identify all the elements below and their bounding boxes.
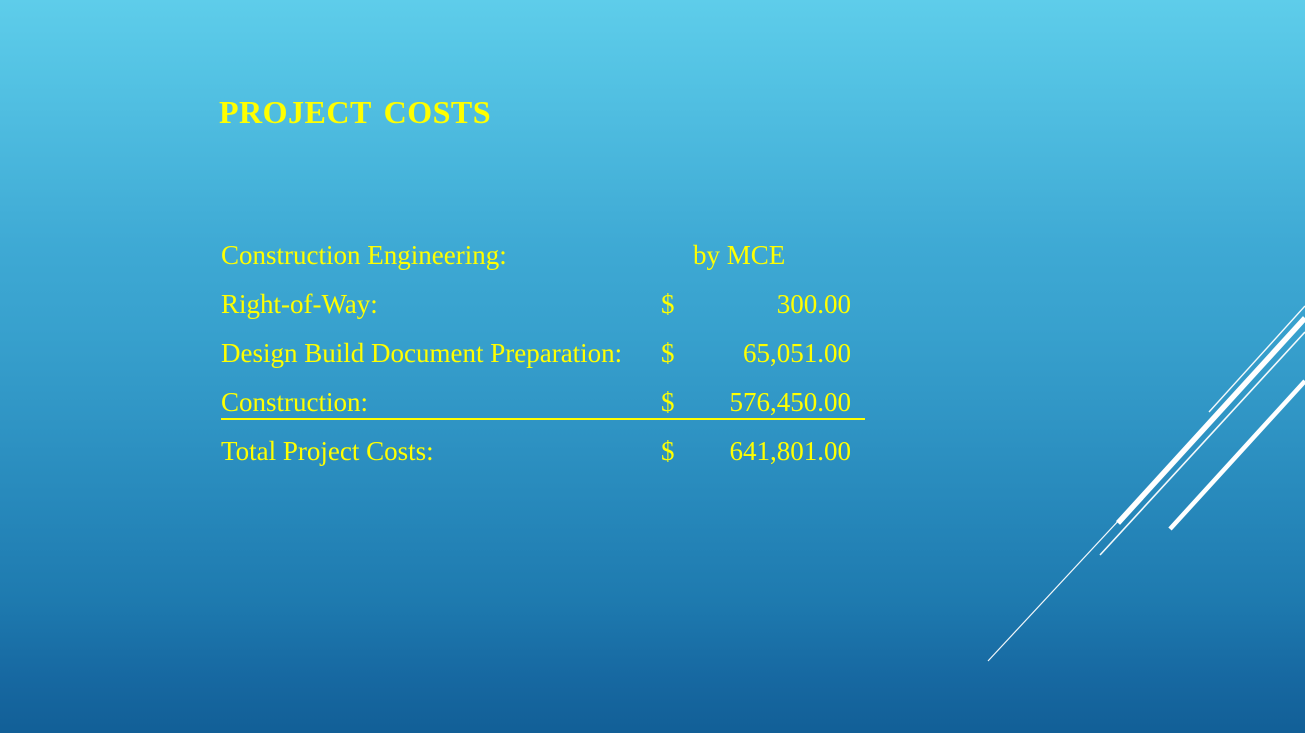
decor-line-short [1209, 306, 1305, 412]
decor-line-thin [1100, 332, 1305, 555]
cost-label: Right-of-Way: [221, 287, 661, 321]
cost-label: Design Build Document Preparation: [221, 336, 661, 370]
table-row: Design Build Document Preparation: $ 65,… [221, 336, 861, 385]
page-title: Project Costs [219, 85, 491, 132]
cost-label-total: Total Project Costs: [221, 434, 661, 468]
cost-amount-total: 641,801.00 [691, 434, 853, 468]
decor-line-medium [1170, 381, 1305, 529]
cost-label: Construction: [221, 385, 661, 419]
table-row: Right-of-Way: $ 300.00 [221, 287, 861, 336]
table-row: Construction Engineering: by MCE [221, 238, 861, 287]
project-costs-table: Construction Engineering: by MCE Right-o… [221, 238, 861, 483]
table-row-subtotal-rule: Construction: $ 576,450.00 [221, 385, 861, 434]
cost-amount: 576,450.00 [691, 385, 853, 419]
cost-amount: 65,051.00 [691, 336, 853, 370]
decor-line-hairline [988, 320, 1305, 661]
cost-label: Construction Engineering: [221, 238, 661, 272]
currency-symbol: $ [661, 336, 691, 370]
slide-canvas: Project Costs Construction Engineering: … [0, 0, 1305, 733]
table-row-total: Total Project Costs: $ 641,801.00 [221, 434, 861, 483]
currency-symbol: $ [661, 434, 691, 468]
cost-amount: 300.00 [691, 287, 853, 321]
currency-symbol: $ [661, 287, 691, 321]
currency-symbol: $ [661, 385, 691, 419]
decor-line-thick [1118, 318, 1305, 523]
cost-amount: by MCE [691, 238, 855, 272]
